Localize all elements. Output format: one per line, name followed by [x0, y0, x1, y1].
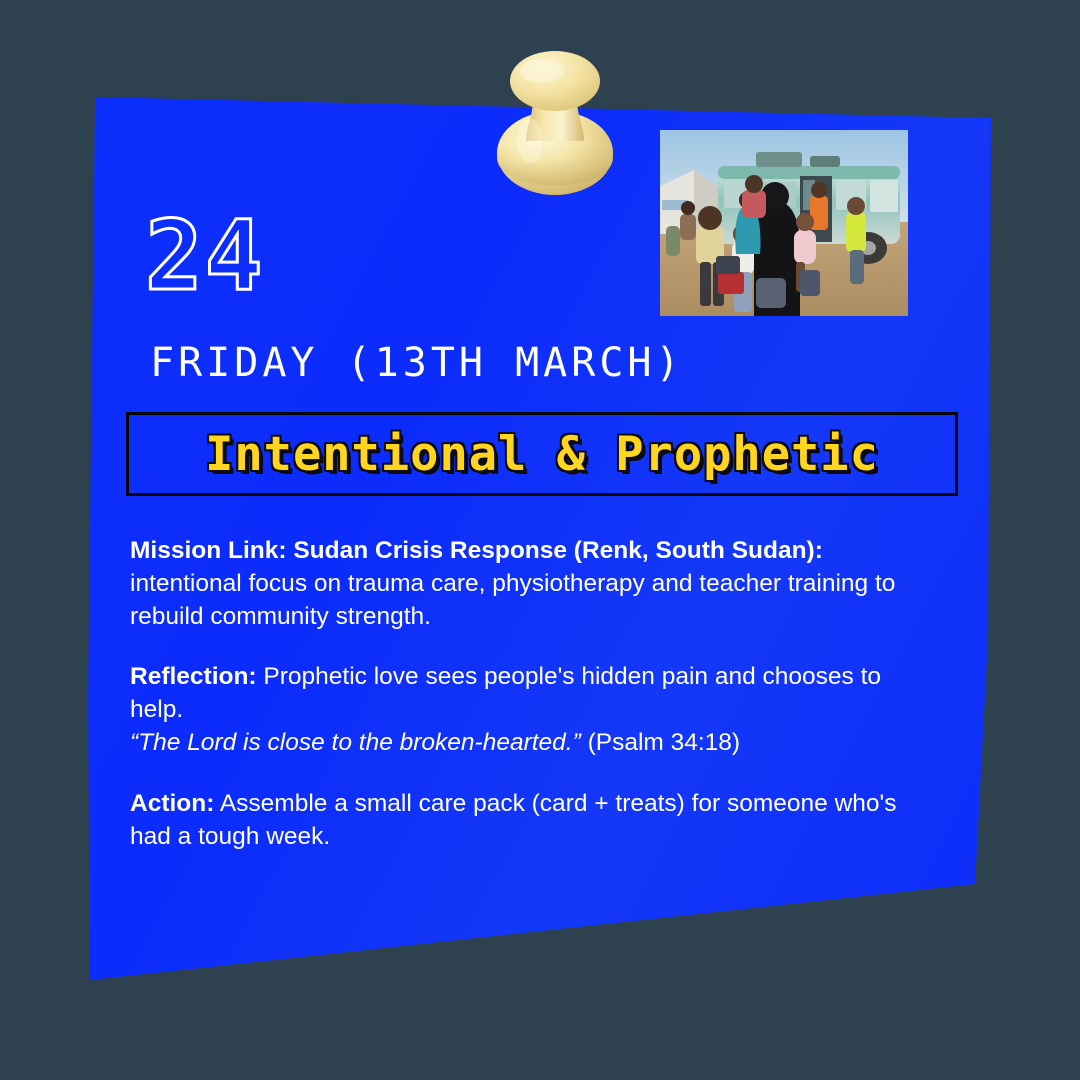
mission-photo [660, 130, 908, 316]
day-number-value: 24 [145, 200, 265, 312]
day-number: 24 24 [145, 208, 265, 304]
reflection-lead: Reflection: [130, 663, 257, 690]
body-copy: Mission Link: Sudan Crisis Response (Ren… [130, 535, 920, 854]
paragraph-reflection: Reflection: Prophetic love sees people's… [130, 661, 920, 759]
mission-link-text: intentional focus on trauma care, physio… [130, 570, 895, 630]
mission-link-lead: Mission Link: Sudan Crisis Response (Ren… [130, 537, 823, 564]
weekday-line: FRIDAY (13TH MARCH) [150, 340, 684, 386]
action-text: Assemble a small care pack (card + treat… [130, 790, 897, 850]
paragraph-mission-link: Mission Link: Sudan Crisis Response (Ren… [130, 535, 920, 633]
pushpin-icon [490, 45, 620, 195]
headline-text: Intentional & Prophetic [205, 427, 879, 482]
action-lead: Action: [130, 790, 214, 817]
reflection-quote: “The Lord is close to the broken-hearted… [130, 729, 581, 756]
poster-canvas: 24 24 FRIDAY (13TH MARCH) [0, 0, 1080, 1080]
reflection-reference: (Psalm 34:18) [581, 729, 740, 756]
headline-box: Intentional & Prophetic [126, 412, 958, 496]
paragraph-action: Action: Assemble a small care pack (card… [130, 788, 920, 854]
